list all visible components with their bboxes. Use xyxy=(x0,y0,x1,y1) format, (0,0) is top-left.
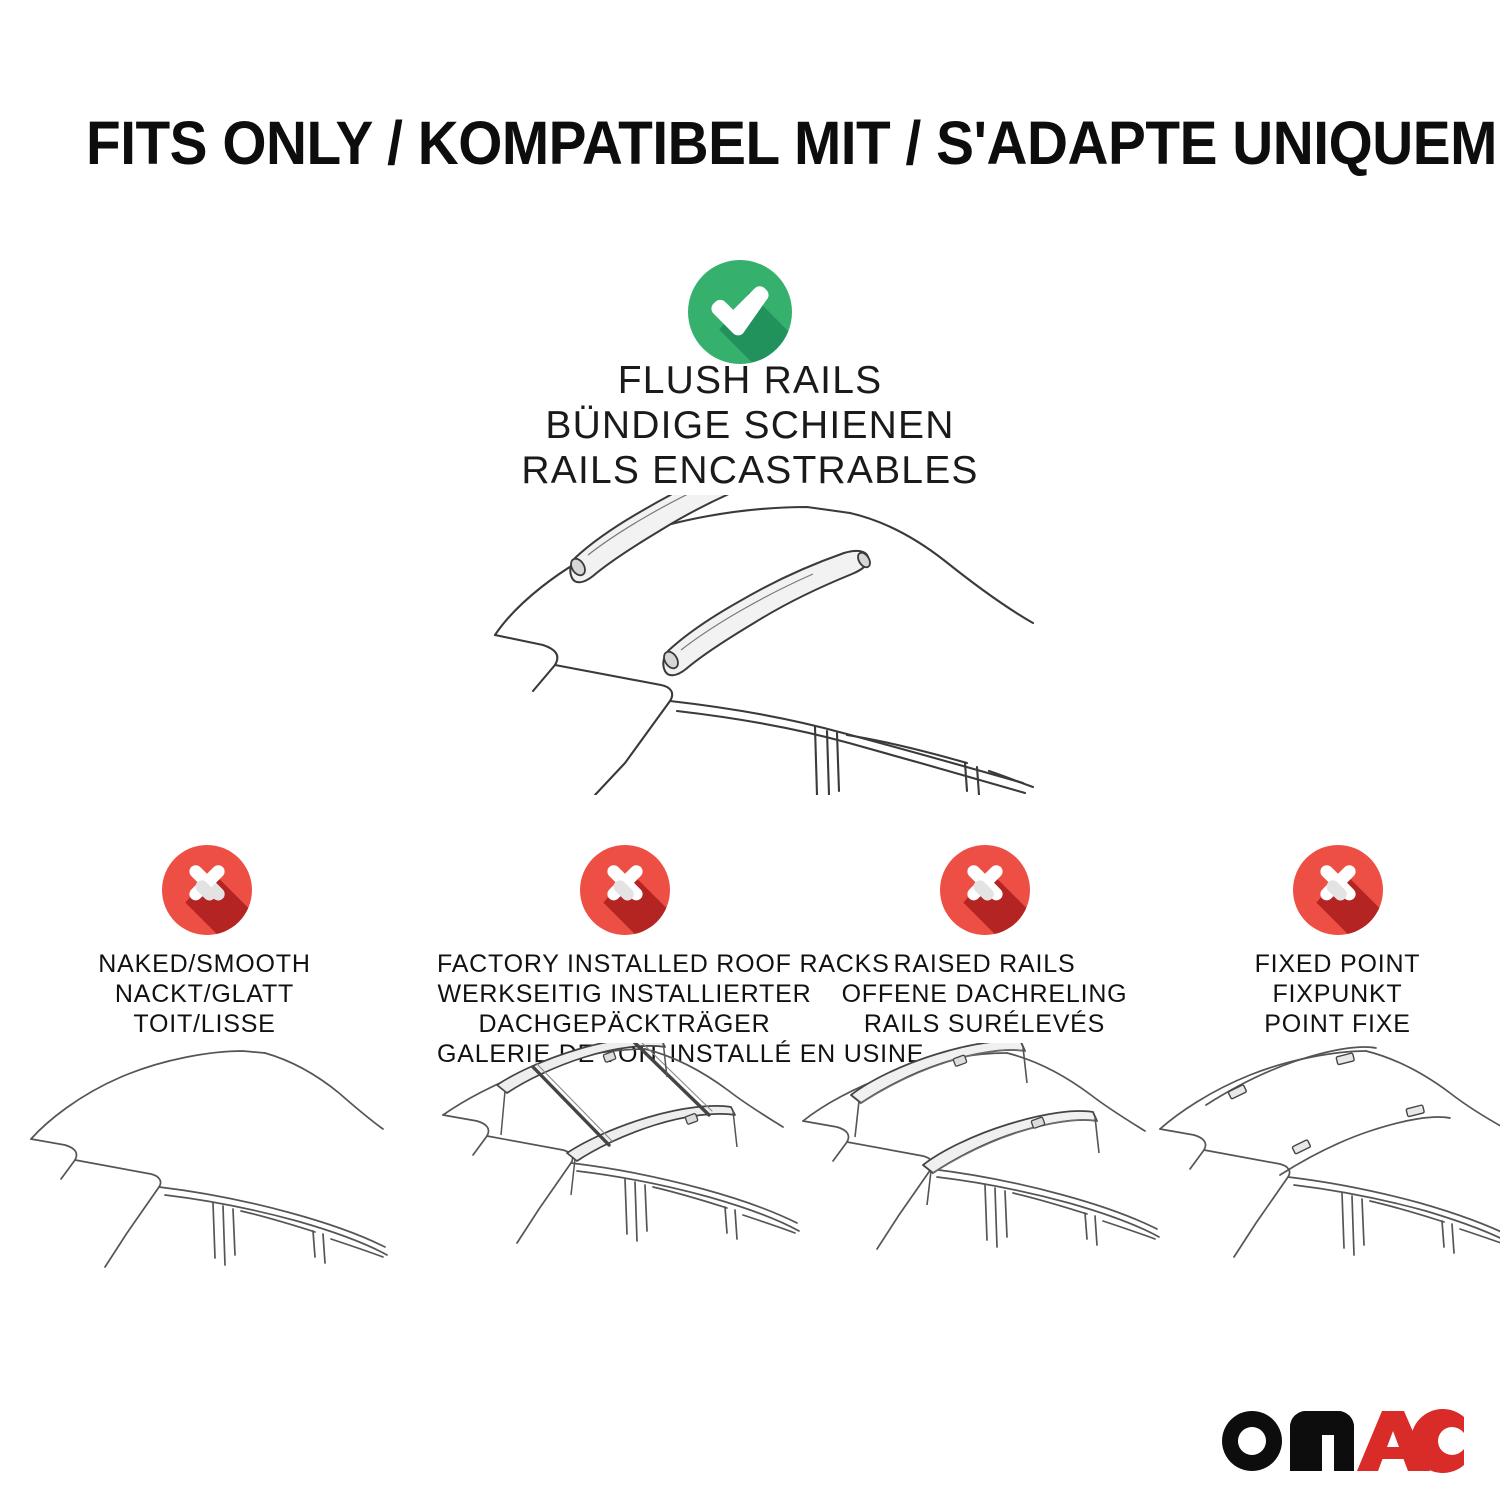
cross-mark-icon xyxy=(162,845,252,935)
label-line-3: DACHGEPÄCKTRÄGER xyxy=(437,1009,812,1039)
car-roof-naked-smooth-illustration xyxy=(17,1043,392,1278)
incompatible-item-fixed-point: FIXED POINT FIXPUNKT POINT FIXE xyxy=(1150,845,1500,1445)
label-line-3: RAILS SURÉLEVÉS xyxy=(797,1009,1172,1039)
incompatible-item-raised-rails: RAISED RAILS OFFENE DACHRELING RAILS SUR… xyxy=(797,845,1172,1445)
compatible-label-line-3: RAILS ENCASTRABLES xyxy=(0,448,1500,493)
car-roof-fixed-point-illustration xyxy=(1150,1043,1500,1278)
cross-mark-icon xyxy=(940,845,1030,935)
cross-mark-icon xyxy=(1293,845,1383,935)
label-line-1: FIXED POINT xyxy=(1150,949,1500,979)
incompatible-item-naked-smooth: NAKED/SMOOTH NACKT/GLATT TOIT/LISSE xyxy=(17,845,392,1445)
car-roof-factory-roof-racks-illustration xyxy=(437,1043,812,1278)
label-line-2: WERKSEITIG INSTALLIERTER xyxy=(437,979,812,1009)
page-title: FITS ONLY / KOMPATIBEL MIT / S'ADAPTE UN… xyxy=(86,108,1500,178)
label-line-2: NACKT/GLATT xyxy=(17,979,392,1009)
green-check-circle-icon xyxy=(688,260,792,364)
label-line-1: RAISED RAILS xyxy=(797,949,1172,979)
car-roof-with-flush-rails-illustration xyxy=(455,495,1055,795)
red-cross-circle-icon xyxy=(580,845,670,935)
omac-logo xyxy=(1216,1405,1466,1475)
car-roof-raised-rails-illustration xyxy=(797,1043,1172,1278)
label-line-1: NAKED/SMOOTH xyxy=(17,949,392,979)
incompatible-label-naked-smooth: NAKED/SMOOTH NACKT/GLATT TOIT/LISSE xyxy=(17,949,392,1039)
label-line-1: FACTORY INSTALLED ROOF RACKS xyxy=(437,949,812,979)
flush-rail-right xyxy=(661,551,872,676)
red-cross-circle-icon xyxy=(1293,845,1383,935)
cross-mark-icon xyxy=(580,845,670,935)
incompatible-item-factory-installed-roof-racks: FACTORY INSTALLED ROOF RACKS WERKSEITIG … xyxy=(437,845,812,1445)
logo-letter-o xyxy=(1222,1411,1282,1471)
compatible-label-line-2: BÜNDIGE SCHIENEN xyxy=(0,403,1500,448)
compatible-label-line-1: FLUSH RAILS xyxy=(0,358,1500,403)
flush-rail-left xyxy=(568,495,779,582)
label-line-2: FIXPUNKT xyxy=(1150,979,1500,1009)
incompatible-label-raised-rails: RAISED RAILS OFFENE DACHRELING RAILS SUR… xyxy=(797,949,1172,1039)
check-mark-icon xyxy=(688,260,792,364)
compatible-label: FLUSH RAILS BÜNDIGE SCHIENEN RAILS ENCAS… xyxy=(0,358,1500,493)
red-cross-circle-icon xyxy=(162,845,252,935)
label-line-3: POINT FIXE xyxy=(1150,1009,1500,1039)
incompatible-label-fixed-point: FIXED POINT FIXPUNKT POINT FIXE xyxy=(1150,949,1500,1039)
red-cross-circle-icon xyxy=(940,845,1030,935)
omac-logo-mark xyxy=(1216,1405,1466,1475)
logo-letter-m xyxy=(1290,1411,1354,1471)
label-line-3: TOIT/LISSE xyxy=(17,1009,392,1039)
label-line-2: OFFENE DACHRELING xyxy=(797,979,1172,1009)
